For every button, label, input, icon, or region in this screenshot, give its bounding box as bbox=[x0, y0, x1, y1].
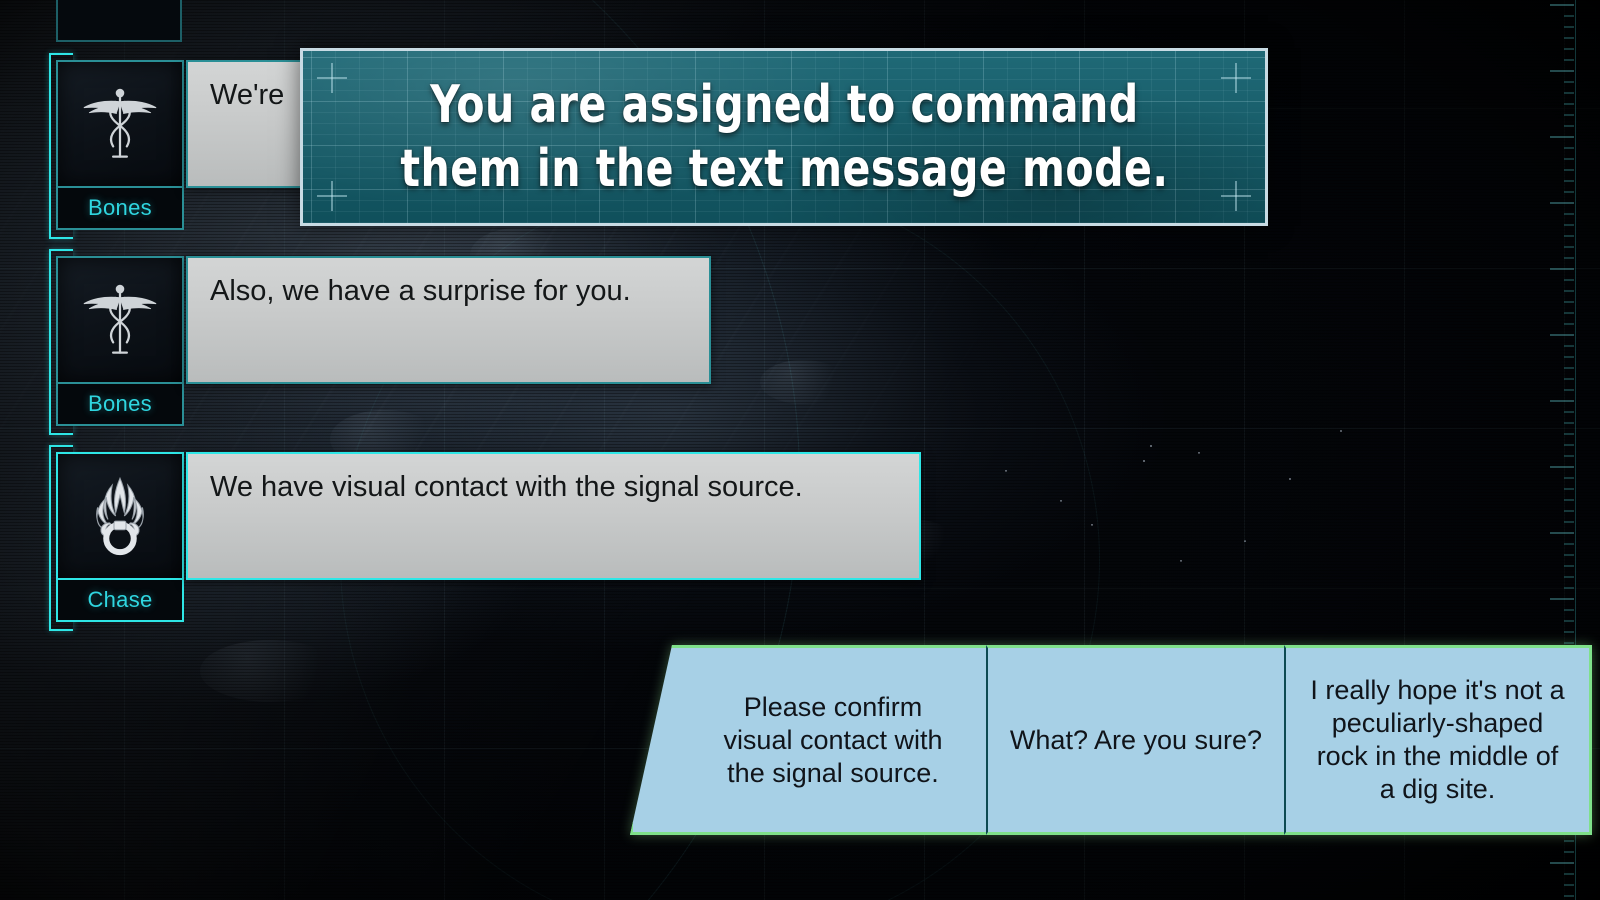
speaker-card-bones[interactable]: Bones bbox=[56, 60, 184, 230]
caduceus-icon bbox=[77, 81, 163, 167]
caduceus-icon bbox=[77, 277, 163, 363]
tutorial-line-1: You are assigned to command bbox=[400, 73, 1168, 137]
speaker-name: Chase bbox=[87, 587, 152, 613]
crosshair-icon-top-right bbox=[1221, 63, 1251, 93]
speaker-card-bones[interactable]: Bones bbox=[56, 256, 184, 426]
message-bubble[interactable]: Also, we have a surprise for you. bbox=[186, 256, 711, 384]
tutorial-banner[interactable]: You are assigned to command them in the … bbox=[300, 48, 1268, 226]
speaker-name: Bones bbox=[88, 391, 152, 417]
dialogue-choice-2[interactable]: What? Are you sure? bbox=[986, 645, 1286, 835]
crosshair-icon-top-left bbox=[317, 63, 347, 93]
crosshair-icon-bottom-left bbox=[317, 181, 347, 211]
choice-text: What? Are you sure? bbox=[1010, 724, 1262, 757]
speaker-name-plate: Bones bbox=[56, 188, 184, 230]
choice-text: Please confirmvisual contact withthe sig… bbox=[723, 691, 942, 790]
speaker-name: Bones bbox=[88, 195, 152, 221]
speaker-name-plate: Bones bbox=[56, 384, 184, 426]
crosshair-icon-bottom-right bbox=[1221, 181, 1251, 211]
message-row[interactable]: Bones Also, we have a surprise for you. bbox=[56, 256, 711, 426]
choice-text: I really hope it's not apeculiarly-shape… bbox=[1310, 674, 1564, 806]
dialogue-choice-bar: Please confirmvisual contact withthe sig… bbox=[630, 645, 1592, 835]
game-screen: Bones We're bbox=[0, 0, 1600, 900]
message-text: Also, we have a surprise for you. bbox=[210, 274, 687, 308]
tutorial-line-2: them in the text message mode. bbox=[400, 137, 1168, 201]
portrait-frame bbox=[56, 452, 184, 580]
portrait-frame bbox=[56, 60, 184, 188]
dialogue-choice-1[interactable]: Please confirmvisual contact withthe sig… bbox=[678, 645, 988, 835]
flaming-grenade-icon bbox=[77, 473, 163, 559]
message-bubble[interactable]: We have visual contact with the signal s… bbox=[186, 452, 921, 580]
message-row[interactable]: Chase We have visual contact with the si… bbox=[56, 452, 921, 622]
message-text: We have visual contact with the signal s… bbox=[210, 470, 897, 504]
speaker-card-chase[interactable]: Chase bbox=[56, 452, 184, 622]
dialogue-choice-3[interactable]: I really hope it's not apeculiarly-shape… bbox=[1284, 645, 1592, 835]
portrait-frame bbox=[56, 256, 184, 384]
message-row-cutoff-stub bbox=[56, 0, 182, 42]
tutorial-text: You are assigned to command them in the … bbox=[400, 73, 1168, 201]
choice-bar-slant-edge bbox=[630, 645, 682, 835]
speaker-name-plate: Chase bbox=[56, 580, 184, 622]
